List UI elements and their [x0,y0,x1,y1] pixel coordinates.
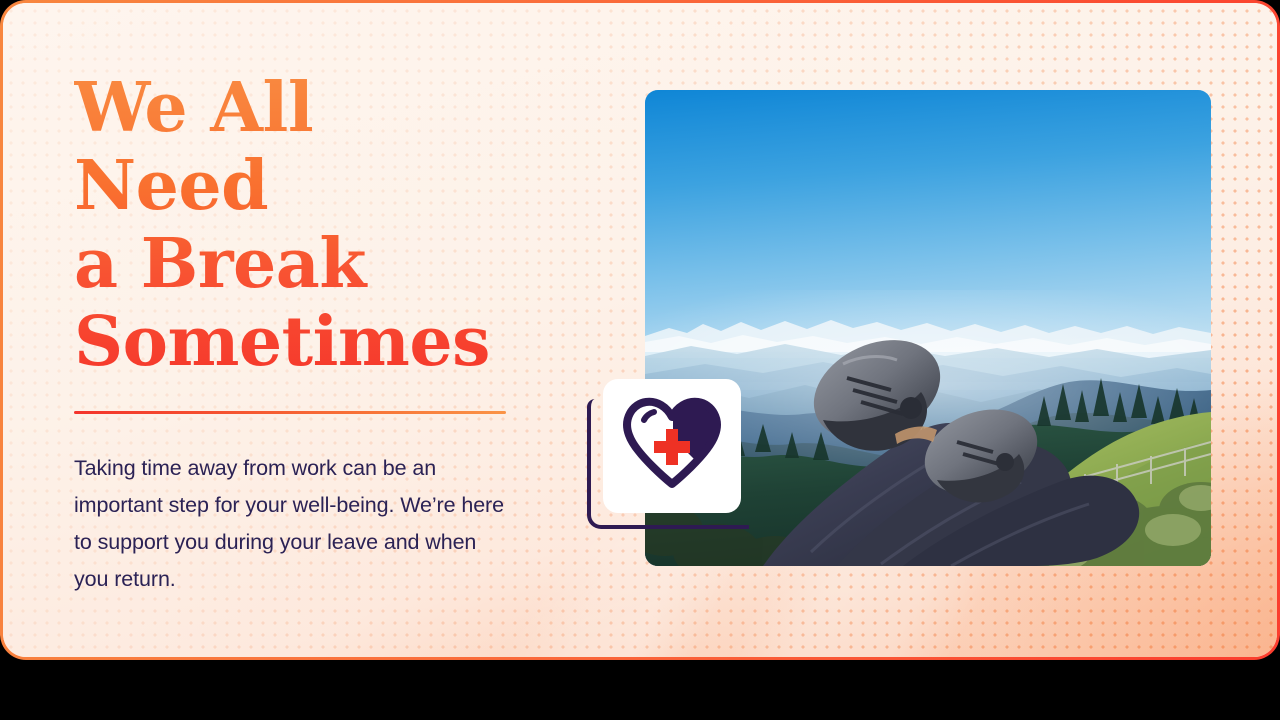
slide-canvas: We All Need a Break Sometimes Taking tim… [0,0,1280,660]
body-paragraph: Taking time away from work can be an imp… [74,450,512,598]
page-title: We All Need a Break Sometimes [74,69,524,381]
heart-with-medical-cross-icon [620,393,724,497]
text-column: We All Need a Break Sometimes Taking tim… [74,69,524,598]
divider-rule [74,411,506,414]
logo-card [603,379,741,513]
slide-surface: We All Need a Break Sometimes Taking tim… [3,3,1277,657]
